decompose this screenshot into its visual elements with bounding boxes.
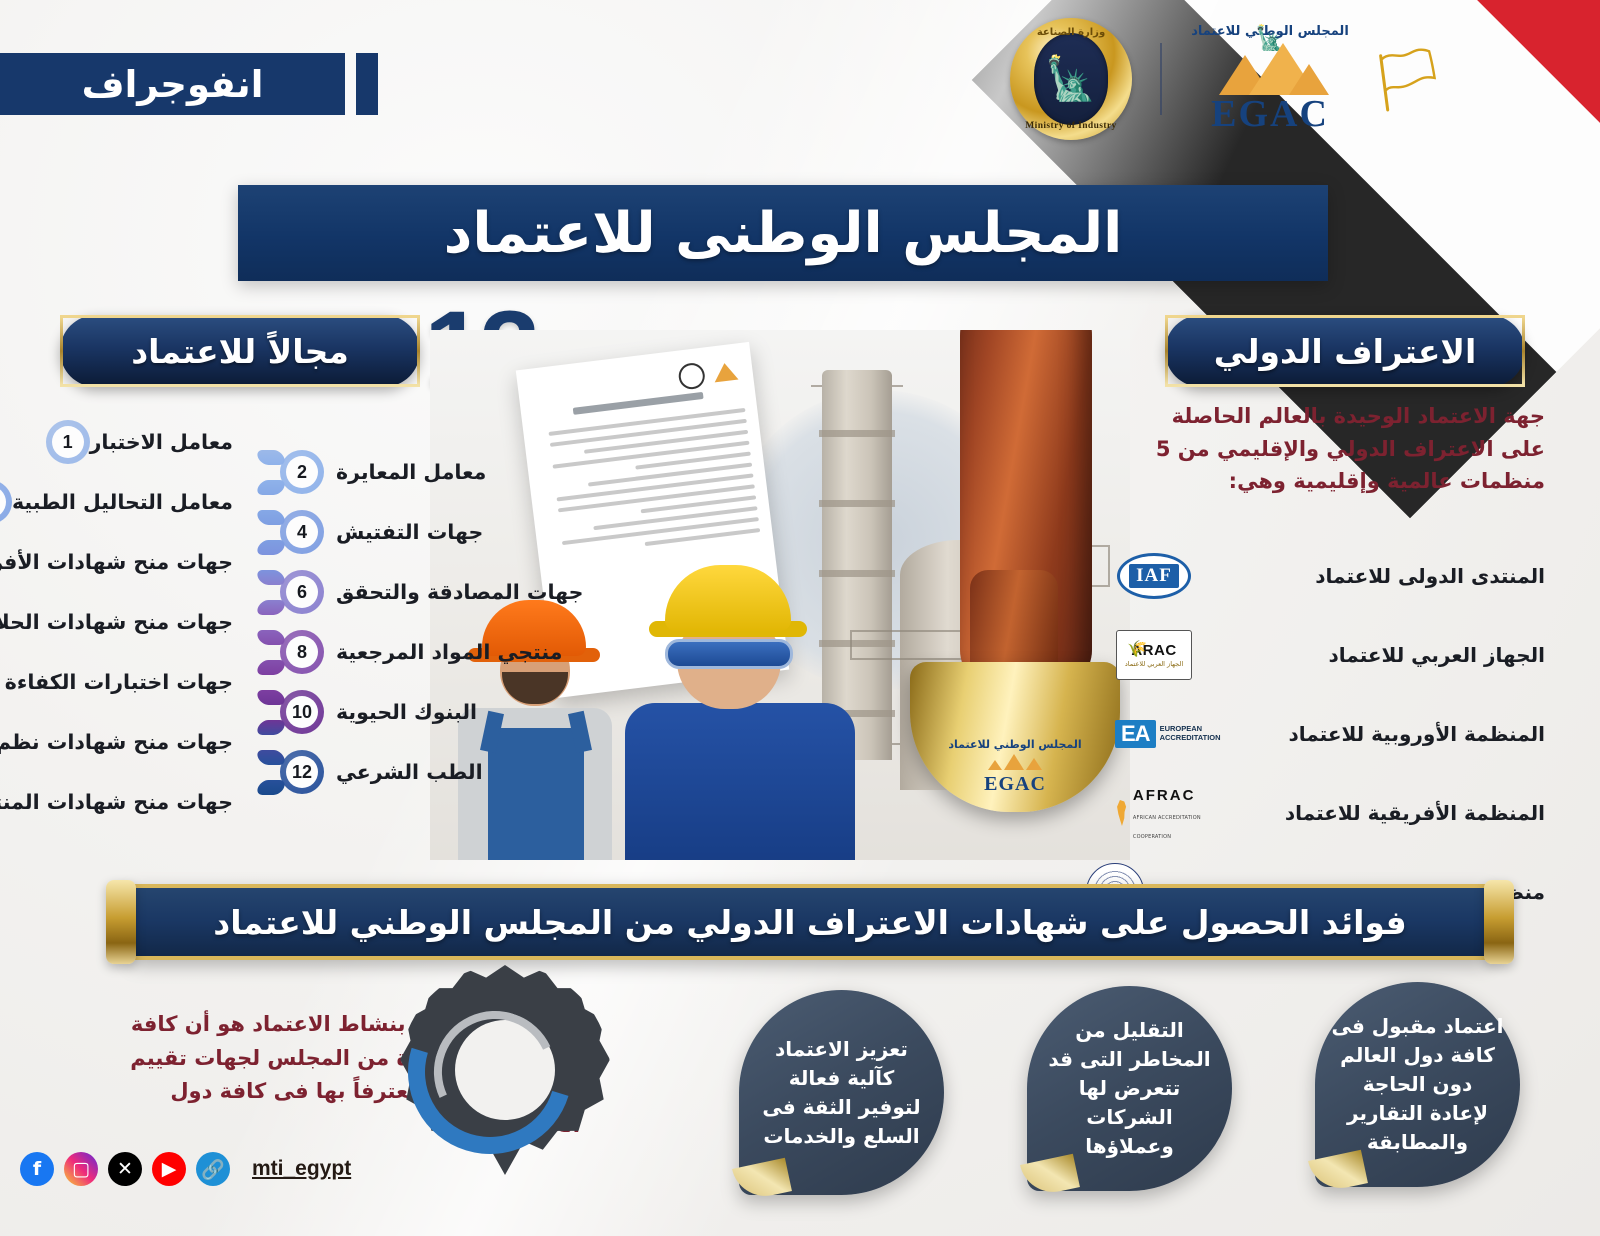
area-label: معامل الاختبار [90,430,233,454]
area-number-badge: 8 [280,630,324,674]
social-footer: f ▢ ✕ ▶ 🔗 mti_egypt [20,1152,351,1186]
accreditation-area-item: 5جهات منح شهادات الأفراد [0,540,245,584]
area-number: 8 [297,642,307,663]
area-label: جهات منح شهادات المنتجات [0,790,233,814]
benefit-bubbles: اعتماد مقبول فى كافة دول العالم دون الحا… [660,982,1520,1187]
gear-icon [400,965,610,1175]
infographic-page: 🏳 انفوجراف المجلس الوطني للاعتماد 🗽 EGAC… [0,0,1600,1236]
organization-name: المنظمة الأفريقية للاعتماد [1219,801,1546,825]
area-number-badge: 3 [0,480,12,524]
area-number: 6 [297,582,307,603]
area-label: معامل المعايرة [336,460,486,484]
accreditation-area-item: 2معامل المعايرة [280,450,486,494]
egac-pyramids-icon: 🗽 [1215,41,1325,95]
organization-name: المنظمة الأوروبية للاعتماد [1237,722,1545,746]
benefit-bubble: التقليل من المخاطر التى قد تتعرض لها الش… [1027,986,1232,1191]
accreditation-area-item: 12الطب الشرعي [280,750,483,794]
area-label: جهات منح شهادات الحلال [0,610,233,634]
infographic-badge: انفوجراف [0,53,345,115]
accreditation-area-item: 9جهات اختبارات الكفاءة الفنية [0,660,245,704]
social-handle[interactable]: mti_egypt [252,1157,351,1181]
area-label: جهات منح شهادات الأفراد [0,550,233,574]
area-number: 12 [292,762,312,783]
area-number-badge: 10 [280,690,324,734]
area-number: 10 [292,702,312,723]
area-number-badge: 6 [280,570,324,614]
ministry-eagle-icon: 🗽 [1034,33,1108,125]
benefits-banner: فوائد الحصول على شهادات الاعتراف الدولي … [106,884,1514,960]
worker-yellow-helmet [625,565,855,860]
accreditation-area-item: 11جهات منح شهادات نظم الإدارة [0,720,245,764]
area-number-badge: 1 [46,420,90,464]
area-number: 4 [297,522,307,543]
benefit-bubble-text: تعزيز الاعتماد كآلية فعالة لتوفير الثقة … [755,1035,928,1151]
international-pill: الاعتراف الدولي [1165,315,1525,387]
link-icon[interactable]: 🔗 [196,1152,230,1186]
area-label: معامل التحاليل الطبية [12,490,233,514]
accreditation-area-item: 4جهات التفتيش [280,510,483,554]
instagram-icon[interactable]: ▢ [64,1152,98,1186]
egac-rubber-stamp: المجلس الوطني للاعتماد EGAC [896,330,1130,830]
banner-cap-right [1484,880,1514,964]
organization-name: المنتدى الدولى للاعتماد [1209,564,1545,588]
benefit-bubble: اعتماد مقبول فى كافة دول العالم دون الحا… [1315,982,1520,1187]
area-number: 1 [63,432,73,453]
infographic-label: انفوجراف [82,63,264,106]
bubble-curl [732,1158,792,1202]
international-pill-label: الاعتراف الدولي [1214,332,1477,371]
banner-cap-left [106,880,136,964]
egac-logo: المجلس الوطني للاعتماد 🗽 EGAC [1190,25,1350,133]
organization-row: المنظمة الأفريقية للاعتمادAFRACAFRICAN A… [1115,787,1545,839]
ea-logo: EAEUROPEANACCREDITATION [1115,708,1221,760]
facebook-icon[interactable]: f [20,1152,54,1186]
area-label: جهات المصادقة والتحقق [336,580,583,604]
egac-wordmark: EGAC [1190,95,1350,133]
area-label: الطب الشرعي [336,760,483,784]
ministry-logo-arabic: وزارة الصناعة [1010,27,1132,38]
area-label: جهات منح شهادات نظم الإدارة [0,730,233,754]
area-number-badge: 4 [280,510,324,554]
benefit-bubble-text: التقليل من المخاطر التى قد تتعرض لها الش… [1043,1016,1216,1161]
x-icon[interactable]: ✕ [108,1152,142,1186]
area-number-badge: 12 [280,750,324,794]
accreditation-area-item: 13جهات منح شهادات المنتجات [0,780,245,824]
organization-name: الجهاز العربي للاعتماد [1209,643,1545,667]
international-description: جهة الاعتماد الوحيدة بالعالم الحاصلة على… [1135,400,1545,498]
accreditation-area-item: 3معامل التحاليل الطبية [0,480,245,524]
accreditation-area-item: 10البنوك الحيوية [280,690,477,734]
area-label: جهات اختبارات الكفاءة الفنية [0,670,233,694]
accreditation-area-item: 6جهات المصادقة والتحقق [280,570,583,614]
eagle-of-saladin-icon: 🏳 [1373,43,1447,117]
area-label: البنوك الحيوية [336,700,477,724]
ministry-of-industry-logo: وزارة الصناعة 🗽 Ministry of Industry [1010,18,1132,140]
arac-logo: 🌾ARACالجهاز العربي للاعتماد [1115,629,1193,681]
accreditation-area-item: 7جهات منح شهادات الحلال [0,600,245,644]
areas-pill: مجالاً للاعتماد [60,315,420,387]
accreditation-area-item: 1معامل الاختبار [46,420,245,464]
logo-group: المجلس الوطني للاعتماد 🗽 EGAC وزارة الصن… [1010,18,1350,140]
accreditation-areas-chain: 1معامل الاختبار2معامل المعايرة3معامل الت… [0,418,480,808]
infographic-badge-tick [356,53,378,115]
youtube-icon[interactable]: ▶ [152,1152,186,1186]
benefit-bubble-text: اعتماد مقبول فى كافة دول العالم دون الحا… [1331,1012,1504,1157]
accreditation-area-item: 8منتجي المواد المرجعية [280,630,562,674]
area-label: منتجي المواد المرجعية [336,640,562,664]
organization-row: الجهاز العربي للاعتماد🌾ARACالجهاز العربي… [1115,629,1545,681]
page-title: المجلس الوطنى للاعتماد [238,185,1328,281]
ministry-logo-english: Ministry of Industry [1010,121,1132,131]
page-title-text: المجلس الوطنى للاعتماد [444,201,1123,266]
afrac-logo: AFRACAFRICAN ACCREDITATION COOPERATION [1115,787,1203,839]
iaf-logo: IAF [1115,550,1193,602]
benefits-banner-title: فوائد الحصول على شهادات الاعتراف الدولي … [213,903,1406,942]
organization-row: المنظمة الأوروبية للاعتمادEAEUROPEANACCR… [1115,708,1545,760]
area-label: جهات التفتيش [336,520,483,544]
organization-row: المنتدى الدولى للاعتمادIAF [1115,550,1545,602]
area-number-badge: 2 [280,450,324,494]
area-number: 2 [297,462,307,483]
areas-pill-label: مجالاً للاعتماد [131,332,349,371]
logo-divider [1160,43,1162,115]
benefit-bubble: تعزيز الاعتماد كآلية فعالة لتوفير الثقة … [739,990,944,1195]
